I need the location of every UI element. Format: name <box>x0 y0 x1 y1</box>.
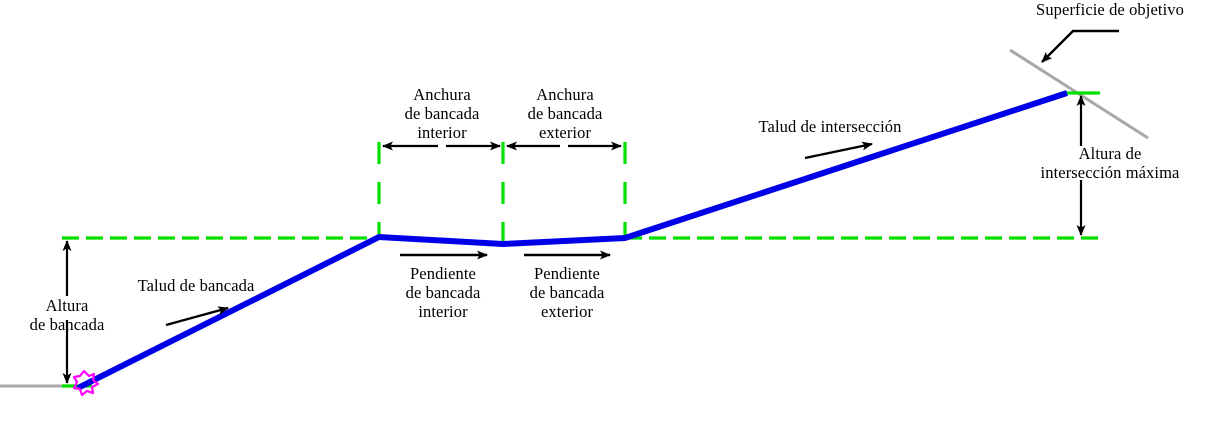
bench-height-label: Altura de bancada <box>30 296 105 334</box>
bench-slope-diagram: Altura de bancada Talud de bancada Anchu… <box>0 0 1222 422</box>
target-surface-label: Superficie de objetivo <box>1036 0 1184 19</box>
intersection-slope-label: Talud de intersección <box>759 117 902 136</box>
max-intersection-height-label: Altura de intersección máxima <box>1041 144 1180 182</box>
target-surface-leader-line <box>1042 31 1119 62</box>
inner-bench-grade-label: Pendiente de bancada interior <box>406 264 481 321</box>
intersection-slope-direction-arrow <box>805 144 872 158</box>
inner-bench-width-label: Anchura de bancada interior <box>405 85 480 142</box>
diagram-canvas <box>0 0 1222 422</box>
outer-bench-width-label: Anchura de bancada exterior <box>528 85 603 142</box>
bench-slope-label: Talud de bancada <box>138 276 255 295</box>
outer-bench-grade-label: Pendiente de bancada exterior <box>530 264 605 321</box>
